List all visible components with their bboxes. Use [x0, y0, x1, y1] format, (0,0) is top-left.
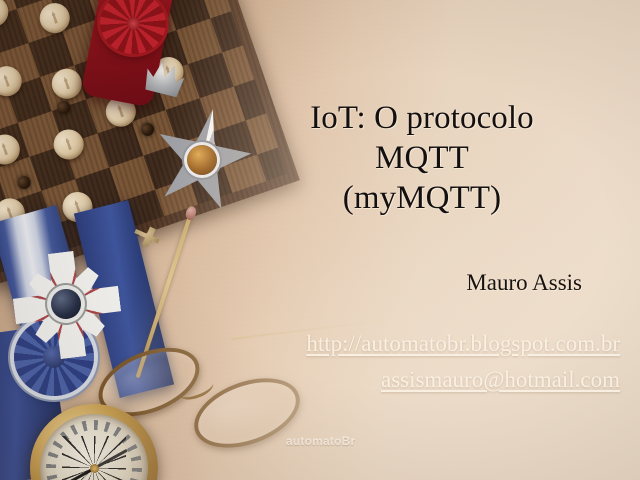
slide-title: IoT: O protocolo MQTT (myMQTT) [236, 98, 608, 218]
blog-link[interactable]: http://automatobr.blogspot.com.br [196, 326, 620, 362]
title-line-2: MQTT [236, 138, 608, 178]
presentation-slide: IoT: O protocolo MQTT (myMQTT) Mauro Ass… [0, 0, 640, 480]
email-link[interactable]: assismauro@hotmail.com [196, 362, 620, 398]
title-line-3: (myMQTT) [236, 178, 608, 218]
slide-text-layer: IoT: O protocolo MQTT (myMQTT) Mauro Ass… [0, 0, 640, 480]
author-name: Mauro Assis [236, 268, 608, 298]
contact-links: http://automatobr.blogspot.com.br assism… [196, 326, 628, 398]
watermark: automatoBr [286, 434, 355, 448]
title-line-1: IoT: O protocolo [236, 98, 608, 138]
